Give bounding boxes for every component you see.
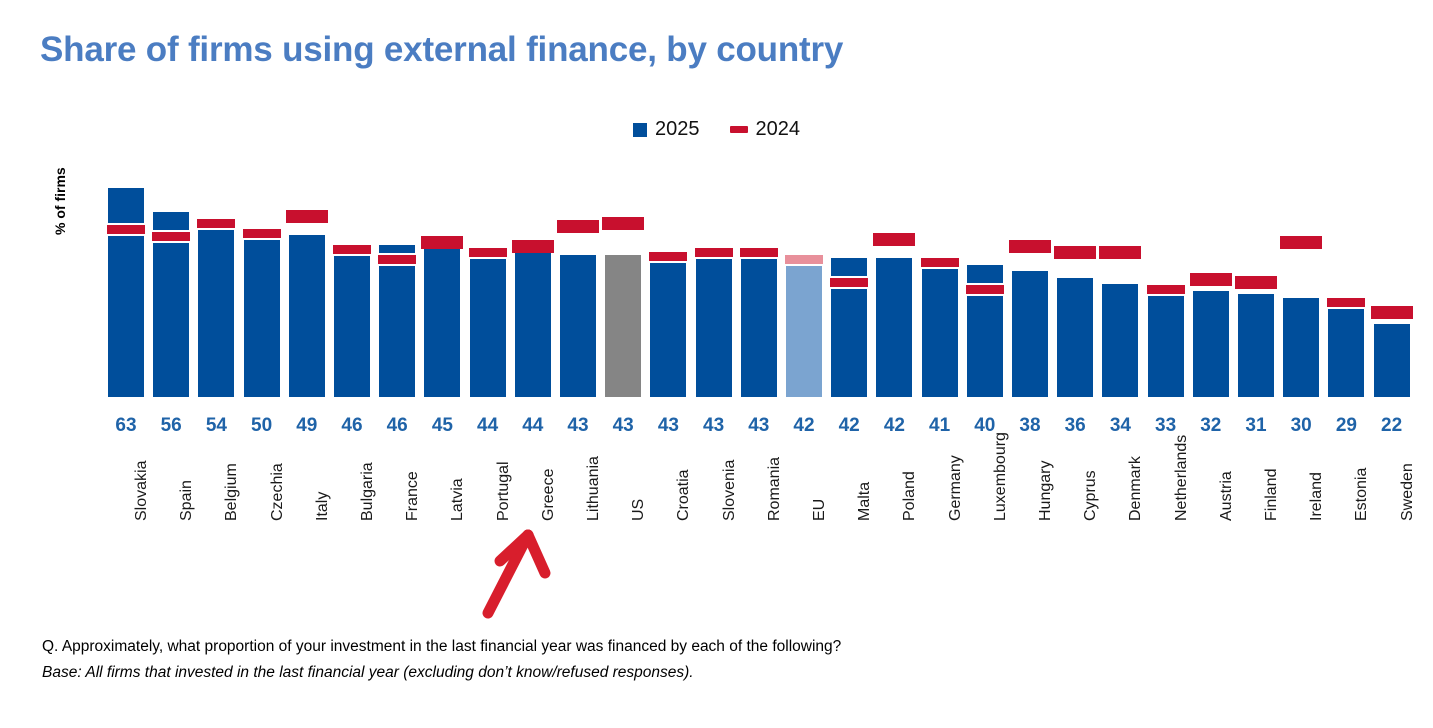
bar-poland	[876, 258, 912, 397]
marker-2024-cyprus	[1054, 246, 1096, 259]
bar-czechia	[244, 232, 280, 398]
value-label-lithuania: 43	[556, 415, 600, 437]
value-label-cyprus: 36	[1053, 415, 1097, 437]
bar-belgium	[198, 218, 234, 397]
category-label-malta: Malta	[856, 482, 874, 521]
marker-2024-france	[376, 253, 418, 266]
marker-2024-portugal	[467, 246, 509, 259]
marker-2024-czechia	[241, 227, 283, 240]
marker-2024-denmark	[1099, 246, 1141, 259]
value-label-finland: 31	[1234, 415, 1278, 437]
value-label-portugal: 44	[466, 415, 510, 437]
value-label-latvia: 45	[420, 415, 464, 437]
value-label-slovenia: 43	[692, 415, 736, 437]
category-label-luxembourg: Luxembourg	[992, 432, 1010, 521]
value-label-france: 46	[375, 415, 419, 437]
value-label-austria: 32	[1189, 415, 1233, 437]
marker-2024-eu	[783, 253, 825, 266]
marker-2024-slovakia	[105, 223, 147, 236]
value-label-czechia: 50	[240, 415, 284, 437]
bar-hungary	[1012, 271, 1048, 397]
bar-portugal	[470, 251, 506, 397]
bar-netherlands	[1148, 288, 1184, 397]
value-label-slovakia: 63	[104, 415, 148, 437]
marker-2024-sweden	[1371, 306, 1413, 319]
category-label-spain: Spain	[178, 480, 196, 521]
category-label-slovenia: Slovenia	[721, 460, 739, 521]
category-label-slovakia: Slovakia	[133, 461, 151, 521]
category-label-greece: Greece	[540, 469, 558, 521]
marker-2024-latvia	[421, 236, 463, 249]
value-label-bulgaria: 46	[330, 415, 374, 437]
marker-2024-germany	[919, 256, 961, 269]
bar-austria	[1193, 291, 1229, 397]
bar-denmark	[1102, 284, 1138, 397]
bar-slovakia	[108, 188, 144, 397]
category-label-croatia: Croatia	[675, 469, 693, 521]
category-label-lithuania: Lithuania	[585, 456, 603, 521]
bar-greece	[515, 251, 551, 397]
category-label-finland: Finland	[1263, 469, 1281, 521]
category-label-portugal: Portugal	[495, 461, 513, 521]
marker-2024-finland	[1235, 276, 1277, 289]
bar-bulgaria	[334, 245, 370, 397]
category-label-sweden: Sweden	[1399, 463, 1417, 521]
annotation-arrow-icon	[470, 515, 590, 625]
category-label-ireland: Ireland	[1308, 472, 1326, 521]
value-label-us: 43	[601, 415, 645, 437]
bar-germany	[922, 261, 958, 397]
bar-finland	[1238, 294, 1274, 397]
bar-estonia	[1328, 301, 1364, 397]
category-label-hungary: Hungary	[1037, 461, 1055, 521]
value-label-greece: 44	[511, 415, 555, 437]
marker-2024-croatia	[647, 250, 689, 263]
footnote-base: Base: All firms that invested in the las…	[42, 664, 694, 682]
marker-2024-slovenia	[693, 246, 735, 259]
category-label-poland: Poland	[901, 471, 919, 521]
bar-eu	[786, 258, 822, 397]
bar-latvia	[424, 248, 460, 397]
category-label-netherlands: Netherlands	[1173, 435, 1191, 521]
category-label-estonia: Estonia	[1353, 468, 1371, 521]
value-label-estonia: 29	[1324, 415, 1368, 437]
value-label-poland: 42	[872, 415, 916, 437]
bar-croatia	[650, 255, 686, 397]
value-label-spain: 56	[149, 415, 193, 437]
category-label-france: France	[404, 471, 422, 521]
marker-2024-hungary	[1009, 240, 1051, 253]
bar-france	[379, 245, 415, 397]
category-label-bulgaria: Bulgaria	[359, 462, 377, 521]
value-label-sweden: 22	[1370, 415, 1414, 437]
marker-2024-bulgaria	[331, 243, 373, 256]
category-label-eu: EU	[811, 499, 829, 521]
marker-2024-us	[602, 217, 644, 230]
bar-italy	[289, 235, 325, 397]
category-label-latvia: Latvia	[449, 478, 467, 521]
value-label-denmark: 34	[1098, 415, 1142, 437]
value-label-belgium: 54	[194, 415, 238, 437]
marker-2024-ireland	[1280, 236, 1322, 249]
marker-2024-estonia	[1325, 296, 1367, 309]
category-label-belgium: Belgium	[223, 463, 241, 521]
marker-2024-lithuania	[557, 220, 599, 233]
bar-sweden	[1374, 324, 1410, 397]
bar-slovenia	[696, 255, 732, 397]
bar-cyprus	[1057, 278, 1093, 397]
value-label-eu: 42	[782, 415, 826, 437]
marker-2024-italy	[286, 210, 328, 223]
category-label-romania: Romania	[766, 457, 784, 521]
value-label-romania: 43	[737, 415, 781, 437]
value-label-italy: 49	[285, 415, 329, 437]
footnote-question: Q. Approximately, what proportion of you…	[42, 638, 841, 656]
category-label-denmark: Denmark	[1127, 456, 1145, 521]
category-label-czechia: Czechia	[269, 463, 287, 521]
bar-romania	[741, 255, 777, 397]
bar-us	[605, 255, 641, 397]
category-label-austria: Austria	[1218, 471, 1236, 521]
category-label-cyprus: Cyprus	[1082, 470, 1100, 521]
marker-2024-belgium	[195, 217, 237, 230]
marker-2024-poland	[873, 233, 915, 246]
value-label-croatia: 43	[646, 415, 690, 437]
category-label-us: US	[630, 499, 648, 521]
bar-ireland	[1283, 298, 1319, 397]
marker-2024-luxembourg	[964, 283, 1006, 296]
category-label-italy: Italy	[314, 492, 332, 521]
marker-2024-netherlands	[1145, 283, 1187, 296]
value-label-germany: 41	[918, 415, 962, 437]
value-label-malta: 42	[827, 415, 871, 437]
marker-2024-spain	[150, 230, 192, 243]
bar-chart-plot-area: 63Slovakia56Spain54Belgium50Czechia49Ita…	[0, 0, 1433, 728]
bar-lithuania	[560, 255, 596, 397]
category-label-germany: Germany	[947, 455, 965, 521]
value-label-hungary: 38	[1008, 415, 1052, 437]
value-label-ireland: 30	[1279, 415, 1323, 437]
marker-2024-greece	[512, 240, 554, 253]
marker-2024-austria	[1190, 273, 1232, 286]
marker-2024-malta	[828, 276, 870, 289]
marker-2024-romania	[738, 246, 780, 259]
value-label-netherlands: 33	[1144, 415, 1188, 437]
